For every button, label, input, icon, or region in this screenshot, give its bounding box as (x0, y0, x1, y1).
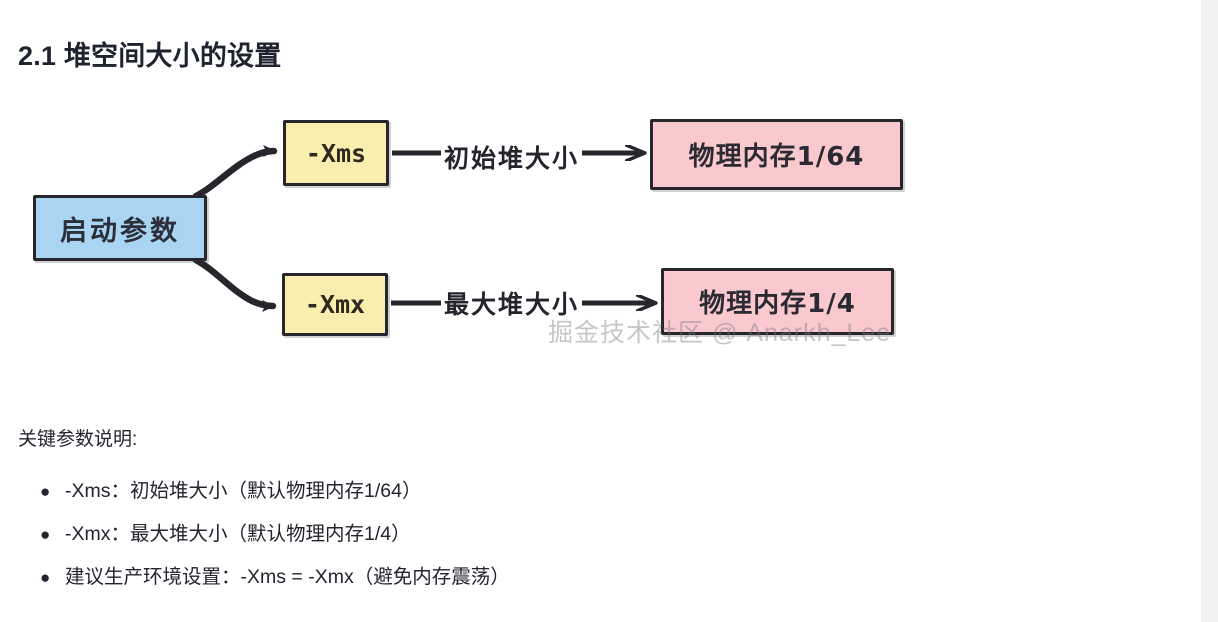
list-item: ● 建议生产环境设置：-Xms = -Xmx（避免内存震荡） (18, 556, 918, 599)
list-item: ● -Xmx：最大堆大小（默认物理内存1/4） (18, 513, 918, 556)
edge-label-max-heap-size: 最大堆大小 (441, 285, 582, 321)
bullet-icon: ● (40, 556, 50, 599)
node-physical-memory-1-4[interactable]: 物理内存1/4 (661, 268, 894, 335)
edge-label-initial-heap-size: 初始堆大小 (441, 139, 582, 175)
heap-size-diagram: 启动参数 -Xms -Xmx 物理内存1/64 物理内存1/4 初始堆大小 最大… (0, 95, 960, 370)
node-physical-memory-1-64-label: 物理内存1/64 (689, 136, 865, 173)
bullet-icon: ● (40, 470, 50, 513)
node-physical-memory-1-64[interactable]: 物理内存1/64 (650, 119, 903, 190)
node-xmx-label: -Xmx (305, 290, 365, 319)
edge-start-to-xmx (196, 260, 273, 306)
node-physical-memory-1-4-label: 物理内存1/4 (699, 283, 856, 320)
document-page: 2.1 堆空间大小的设置 启动参数 -Xms (0, 0, 1201, 622)
list-item-text: -Xmx：最大堆大小（默认物理内存1/4） (65, 523, 411, 545)
list-item: ● -Xms：初始堆大小（默认物理内存1/64） (18, 470, 918, 513)
edge-start-to-xms (196, 151, 274, 196)
list-item-text: -Xms：初始堆大小（默认物理内存1/64） (65, 480, 421, 502)
node-startup-parameters-label: 启动参数 (60, 209, 180, 248)
node-xms-label: -Xms (306, 139, 366, 168)
key-parameters-heading: 关键参数说明: (18, 424, 137, 451)
list-item-text: 建议生产环境设置：-Xms = -Xmx（避免内存震荡） (65, 566, 510, 588)
page-gutter (1201, 0, 1218, 622)
bullet-icon: ● (40, 513, 50, 556)
node-xms[interactable]: -Xms (283, 120, 389, 186)
node-startup-parameters[interactable]: 启动参数 (33, 195, 207, 261)
page-title: 2.1 堆空间大小的设置 (18, 34, 281, 73)
key-parameters-list: ● -Xms：初始堆大小（默认物理内存1/64） ● -Xmx：最大堆大小（默认… (18, 470, 918, 599)
node-xmx[interactable]: -Xmx (282, 273, 388, 336)
